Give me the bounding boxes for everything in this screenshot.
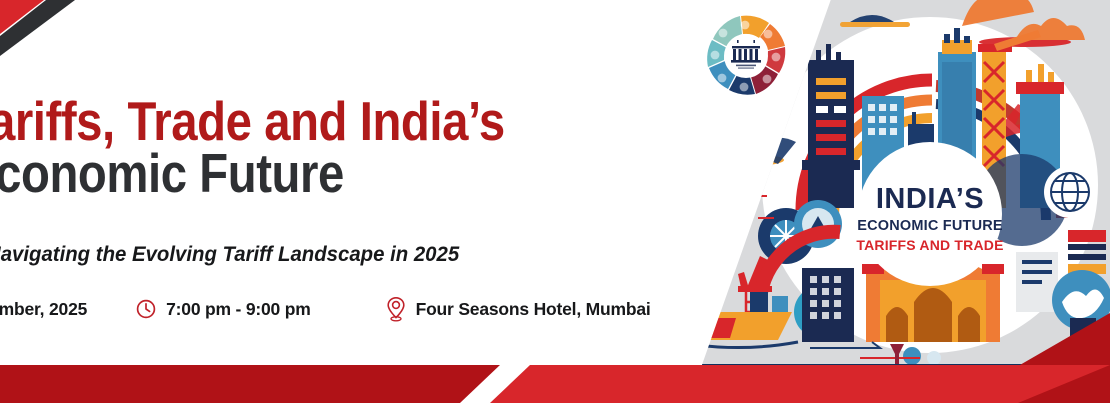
- title-line-1: Tariffs, Trade and India’s: [0, 96, 600, 148]
- badge-line2: ECONOMIC FUTURE: [857, 218, 1003, 234]
- clock-icon: [135, 298, 157, 320]
- chamber-puzzle-logo-svg: [700, 12, 792, 100]
- badge-line3: TARIFFS AND TRADE: [856, 237, 1003, 253]
- title-line-2: Economic Future: [0, 148, 600, 200]
- event-subtitle: Navigating the Evolving Tariff Landscape…: [0, 243, 459, 267]
- event-date: ptember, 2025: [0, 298, 87, 320]
- event-text-block: Tariffs, Trade and India’s Economic Futu…: [0, 0, 700, 365]
- location-pin-icon: [385, 296, 407, 322]
- bottom-bar: [0, 365, 1110, 403]
- event-venue: Four Seasons Hotel, Mumbai: [385, 296, 651, 322]
- event-time-text: 7:00 pm - 9:00 pm: [166, 299, 310, 320]
- chamber-puzzle-logo[interactable]: [700, 12, 792, 100]
- event-venue-text: Four Seasons Hotel, Mumbai: [416, 299, 651, 320]
- badge-line1: INDIA’S: [876, 183, 984, 215]
- event-date-text: ptember, 2025: [0, 299, 87, 320]
- cargo-ship-icon: [690, 272, 798, 348]
- page-title: Tariffs, Trade and India’s Economic Futu…: [0, 96, 600, 199]
- event-banner: INDIA’S ECONOMIC FUTURE TARIFFS AND TRAD…: [0, 0, 1110, 403]
- event-details-row: ptember, 2025 7:00 pm - 9:00 pm Four Sea…: [0, 296, 651, 322]
- event-time: 7:00 pm - 9:00 pm: [135, 298, 310, 320]
